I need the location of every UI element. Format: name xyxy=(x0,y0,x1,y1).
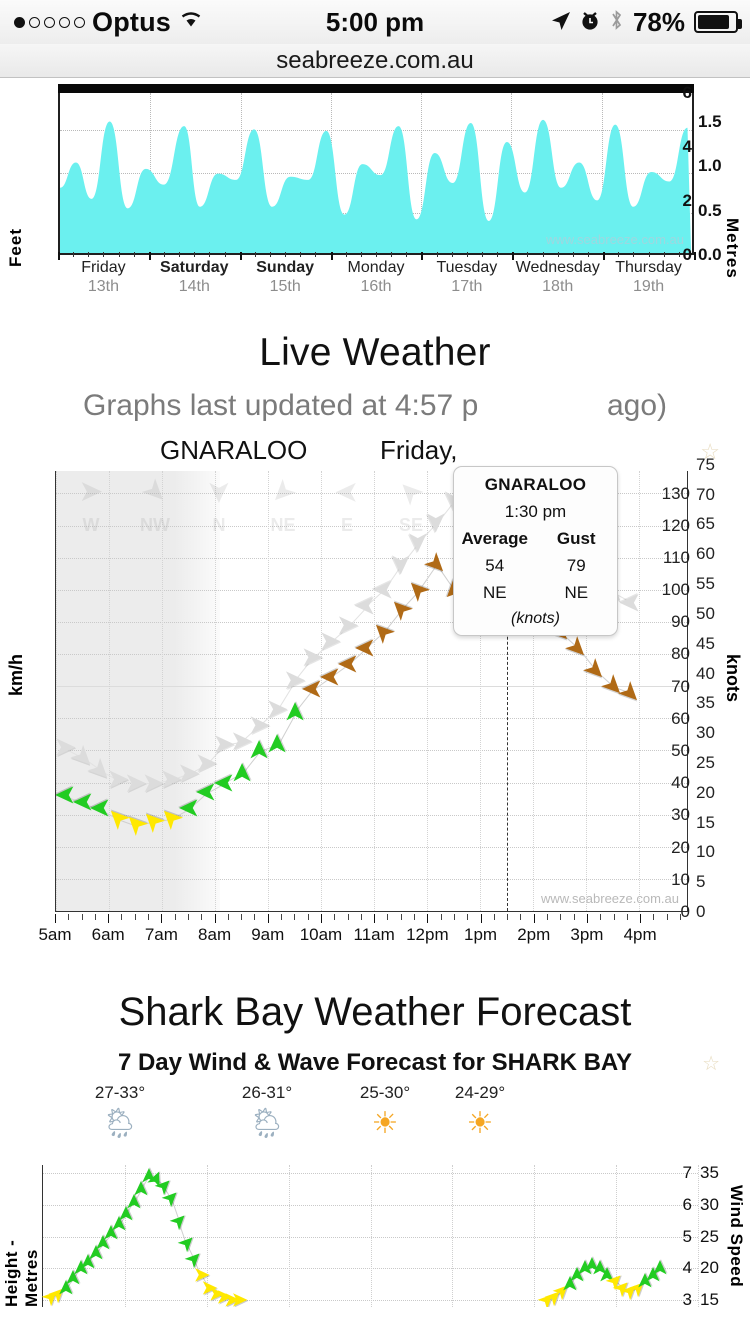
forecast-day: 24-29°☀ xyxy=(425,1083,535,1141)
wind-x-tick xyxy=(254,914,255,920)
page-content: www.seabreeze.com.au 6420 1.51.00.50.0 F… xyxy=(0,78,750,1334)
forecast-wind-arrow: ➤ xyxy=(158,1185,185,1212)
legend-direction-n: ➤N xyxy=(200,477,238,536)
tide-tick-right: 0.5 xyxy=(698,201,722,221)
wind-x-tick xyxy=(574,914,575,920)
wind-x-tick xyxy=(175,914,176,920)
wind-x-tick xyxy=(215,914,216,923)
tooltip-average-header: Average xyxy=(454,529,536,549)
wind-tick-left: 40 xyxy=(671,773,690,793)
wind-x-tick xyxy=(148,914,149,920)
live-wind-graph[interactable]: GNARALOO Friday, ☆ ➤W➤NW➤N➤NE➤E➤SE➤S➤SW … xyxy=(0,429,750,974)
tide-x-tick xyxy=(527,252,528,257)
wind-x-tick xyxy=(387,914,388,920)
wind-x-tick xyxy=(560,914,561,920)
status-bar-clock: 5:00 pm xyxy=(0,7,750,38)
tide-day-name: Sunday xyxy=(240,259,331,277)
wind-x-label: 5am xyxy=(38,925,71,945)
wind-tick-right: 45 xyxy=(696,634,715,654)
tide-x-tick xyxy=(618,252,619,257)
tide-axis-left-label: Feet xyxy=(6,228,26,267)
wind-x-tick xyxy=(600,914,601,920)
wind-tick-left: 20 xyxy=(671,838,690,858)
wind-x-label: 4pm xyxy=(624,925,657,945)
legend-arrow-icon: ➤ xyxy=(391,473,430,512)
live-weather-updated-text: Graphs last updated at 4:57 p ago) xyxy=(0,389,750,423)
gridline xyxy=(374,471,375,911)
updated-text-suffix: ago) xyxy=(607,389,667,422)
tooltip-gust-direction: NE xyxy=(536,583,618,603)
wind-tick-left: 70 xyxy=(671,677,690,697)
wind-tick-right: 55 xyxy=(696,574,715,594)
wind-tick-left: 120 xyxy=(662,516,690,536)
forecast-temp-range: 26-31° xyxy=(212,1083,322,1103)
wind-x-tick xyxy=(161,914,162,923)
tooltip-gust-speed: 79 xyxy=(536,556,618,576)
tide-x-tick xyxy=(346,252,347,257)
wind-tick-left: 90 xyxy=(671,612,690,632)
updated-text-prefix: Graphs last updated at 4:57 p xyxy=(83,389,478,422)
wind-x-tick xyxy=(587,914,588,923)
wind-x-tick xyxy=(334,914,335,920)
tide-x-tick xyxy=(225,252,226,257)
forecast-heading: Shark Bay Weather Forecast xyxy=(0,990,750,1035)
tide-chart[interactable]: www.seabreeze.com.au 6420 1.51.00.50.0 F… xyxy=(0,78,750,313)
tide-x-tick xyxy=(543,252,544,257)
wind-x-tick xyxy=(427,914,428,923)
legend-label: N xyxy=(200,515,238,536)
tide-day-label: Tuesday17th xyxy=(421,259,512,307)
gridline xyxy=(452,1165,453,1307)
wind-x-label: 12pm xyxy=(406,925,449,945)
wind-watermark: www.seabreeze.com.au xyxy=(541,891,679,906)
gridline xyxy=(56,847,687,848)
legend-arrow-icon: ➤ xyxy=(135,473,174,512)
gridline xyxy=(534,1165,535,1307)
wind-x-label: 6am xyxy=(92,925,125,945)
ios-status-bar: Optus 5:00 pm 78% xyxy=(0,0,750,44)
wind-x-tick xyxy=(294,914,295,920)
forecast-tick-right: 35 xyxy=(700,1163,719,1183)
legend-label: NW xyxy=(136,515,174,536)
wind-tick-left: 60 xyxy=(671,709,690,729)
legend-direction-ne: ➤NE xyxy=(264,477,302,536)
wind-x-tick xyxy=(640,914,641,923)
wind-x-tick xyxy=(467,914,468,920)
tide-x-tick xyxy=(376,252,377,257)
tide-x-tick xyxy=(103,252,104,257)
wind-graph-header: GNARALOO Friday, ☆ xyxy=(0,435,750,465)
tide-x-tick xyxy=(88,252,89,257)
forecast-tick-right: 15 xyxy=(700,1290,719,1307)
tooltip-average-direction: NE xyxy=(454,583,536,603)
tide-x-tick xyxy=(452,252,453,257)
tide-day-date: 16th xyxy=(331,278,422,296)
tide-x-tick xyxy=(649,252,650,257)
tide-x-tick xyxy=(437,252,438,257)
forecast-wind-arrow: ➤ xyxy=(231,1290,249,1307)
tide-tick-right: 0.0 xyxy=(698,245,722,265)
wind-graph-date: Friday, xyxy=(380,435,458,466)
wind-x-tick xyxy=(241,914,242,920)
average-arrow-marker: ➤ xyxy=(263,733,290,756)
wind-x-label: 11am xyxy=(354,925,395,945)
gridline xyxy=(56,471,57,911)
forecast-tick-left: 6 xyxy=(683,1195,692,1215)
gridline xyxy=(56,879,687,880)
forecast-temp-range: 24-29° xyxy=(425,1083,535,1103)
wind-x-tick xyxy=(135,914,136,920)
wind-x-tick xyxy=(308,914,309,920)
gust-arrow-marker: ➤ xyxy=(422,511,450,534)
gust-arrow-marker: ➤ xyxy=(387,552,415,575)
wind-x-tick xyxy=(494,914,495,920)
legend-label: E xyxy=(328,515,366,536)
wind-tick-left: 100 xyxy=(662,580,690,600)
tide-x-tick xyxy=(694,252,696,260)
wind-tick-right: 60 xyxy=(696,544,715,564)
tooltip-station: GNARALOO xyxy=(454,475,617,495)
gridline xyxy=(289,1165,290,1307)
tide-x-tick xyxy=(391,252,392,257)
wind-tick-right: 30 xyxy=(696,723,715,743)
wind-x-tick xyxy=(627,914,628,920)
tide-day-name: Wednesday xyxy=(512,259,603,277)
tide-x-tick xyxy=(315,252,316,257)
tide-x-tick xyxy=(179,252,180,257)
tide-watermark: www.seabreeze.com.au xyxy=(546,232,684,247)
gust-arrow-marker: ➤ xyxy=(371,576,394,604)
wind-tick-left: 50 xyxy=(671,741,690,761)
tooltip-direction-row: NE NE xyxy=(454,583,617,603)
wind-past-shading xyxy=(56,471,220,911)
tide-day-date: 14th xyxy=(149,278,240,296)
wind-x-label: 9am xyxy=(251,925,284,945)
wind-axis-x: 5am6am7am8am9am10am11am12pm1pm2pm3pm4pm xyxy=(55,914,688,956)
average-arrow-marker: ➤ xyxy=(228,762,255,785)
wind-tick-right: 50 xyxy=(696,604,715,624)
forecast-wind-arrow: ➤ xyxy=(165,1207,192,1234)
tide-x-tick xyxy=(633,252,634,257)
wind-x-tick xyxy=(55,914,56,923)
wind-x-tick xyxy=(534,914,535,923)
legend-arrow-icon: ➤ xyxy=(334,477,359,507)
tide-x-tick xyxy=(164,252,165,257)
wind-tick-right: 0 xyxy=(696,902,705,922)
wind-tick-left: 130 xyxy=(662,484,690,504)
wind-tick-right: 10 xyxy=(696,842,715,862)
tide-day-name: Monday xyxy=(331,259,422,277)
tide-x-tick xyxy=(679,252,680,257)
sun-icon: ☀ xyxy=(425,1107,535,1141)
wind-x-tick xyxy=(188,914,189,920)
tide-day-label: Friday13th xyxy=(58,259,149,307)
legend-label: NE xyxy=(264,515,302,536)
tooltip-header-row: Average Gust xyxy=(454,529,617,549)
forecast-tick-right: 20 xyxy=(700,1258,719,1278)
gridline xyxy=(56,718,687,719)
tooltip-average-speed: 54 xyxy=(454,556,536,576)
tide-curve xyxy=(60,93,692,255)
forecast-plot-area: ➤➤➤➤➤➤➤➤➤➤➤➤➤➤➤➤➤➤➤➤➤➤➤➤➤➤➤➤➤➤➤➤➤➤➤➤➤➤➤➤… xyxy=(42,1165,698,1307)
wind-tick-right: 65 xyxy=(696,514,715,534)
tide-x-tick xyxy=(406,252,407,257)
legend-direction-nw: ➤NW xyxy=(136,477,174,536)
wind-tick-right: 40 xyxy=(696,664,715,684)
forecast-axis-left-label: Height - Metres xyxy=(2,1205,42,1307)
wind-x-label: 8am xyxy=(198,925,231,945)
forecast-temp-range: 27-33° xyxy=(65,1083,175,1103)
legend-arrow-icon: ➤ xyxy=(78,477,103,507)
wind-x-tick xyxy=(121,914,122,920)
wind-tick-right: 20 xyxy=(696,783,715,803)
wind-x-tick xyxy=(667,914,668,920)
tide-x-tick xyxy=(209,252,210,257)
wind-axis-left-label: km/h xyxy=(6,654,27,696)
tide-day-labels: Friday13thSaturday14thSunday15thMonday16… xyxy=(58,259,694,307)
forecast-subheading: 7 Day Wind & Wave Forecast for SHARK BAY xyxy=(0,1049,750,1077)
forecast-tick-left: 5 xyxy=(683,1227,692,1247)
gridline xyxy=(371,1165,372,1307)
tide-tick-left: 6 xyxy=(683,83,692,103)
wind-x-tick xyxy=(281,914,282,920)
legend-arrow-icon: ➤ xyxy=(204,479,234,504)
tide-x-tick xyxy=(194,252,195,257)
tooltip-units: (knots) xyxy=(454,610,617,628)
tide-tick-right: 1.5 xyxy=(698,112,722,132)
tide-x-tick xyxy=(573,252,574,257)
wind-x-label: 10am xyxy=(300,925,343,945)
forecast-day: 26-31°🌦 xyxy=(212,1083,322,1141)
gridline xyxy=(698,1165,699,1307)
wind-x-label: 1pm xyxy=(464,925,497,945)
wind-x-tick xyxy=(441,914,442,920)
tide-day-name: Friday xyxy=(58,259,149,277)
tide-day-date: 13th xyxy=(58,278,149,296)
tide-tick-left: 2 xyxy=(683,191,692,211)
wind-tick-right: 75 xyxy=(696,455,715,475)
gridline xyxy=(268,471,269,911)
wind-x-tick xyxy=(614,914,615,920)
wind-x-tick xyxy=(401,914,402,920)
sun-rain-icon: 🌦 xyxy=(65,1107,175,1141)
wind-tick-right: 70 xyxy=(696,485,715,505)
tide-day-name: Tuesday xyxy=(421,259,512,277)
wind-x-tick xyxy=(520,914,521,920)
wind-x-label: 2pm xyxy=(517,925,550,945)
wind-x-tick xyxy=(228,914,229,920)
forecast-axis-right-label: Wind Speed xyxy=(726,1185,746,1287)
tide-axis-x-ticks xyxy=(58,252,694,259)
legend-direction-w: ➤W xyxy=(72,477,110,536)
tide-x-tick xyxy=(482,252,483,257)
sun-rain-icon: 🌦 xyxy=(212,1107,322,1141)
tide-x-tick xyxy=(73,252,74,257)
forecast-temp-range: 25-30° xyxy=(330,1083,440,1103)
tide-day-name: Thursday xyxy=(603,259,694,277)
tide-day-label: Wednesday18th xyxy=(512,259,603,307)
tide-day-date: 15th xyxy=(240,278,331,296)
wind-x-tick xyxy=(414,914,415,920)
sun-icon: ☀ xyxy=(330,1107,440,1141)
wind-tick-right: 25 xyxy=(696,753,715,773)
wind-x-tick xyxy=(507,914,508,920)
wind-x-tick xyxy=(68,914,69,920)
tide-day-date: 19th xyxy=(603,278,694,296)
forecast-day-summaries: 27-33°🌦26-31°🌦25-30°☀24-29°☀ xyxy=(0,1083,750,1157)
wind-x-label: 3pm xyxy=(570,925,603,945)
forecast-wind-arrow: ➤ xyxy=(650,1260,671,1278)
live-weather-heading: Live Weather xyxy=(0,331,750,375)
tide-day-label: Thursday19th xyxy=(603,259,694,307)
tide-x-tick xyxy=(270,252,271,257)
forecast-chart[interactable]: ➤➤➤➤➤➤➤➤➤➤➤➤➤➤➤➤➤➤➤➤➤➤➤➤➤➤➤➤➤➤➤➤➤➤➤➤➤➤➤➤… xyxy=(0,1157,750,1307)
tide-axis-right-label: Metres xyxy=(722,218,742,279)
forecast-tick-right: 30 xyxy=(700,1195,719,1215)
tide-day-label: Saturday14th xyxy=(149,259,240,307)
battery-icon xyxy=(694,11,738,33)
gridline xyxy=(109,471,110,911)
wind-axis-right-label: knots xyxy=(722,654,743,702)
legend-direction-e: ➤E xyxy=(328,477,366,536)
favourite-star-icon[interactable]: ☆ xyxy=(702,1051,720,1076)
wind-x-tick xyxy=(454,914,455,920)
forecast-tick-left: 4 xyxy=(683,1258,692,1278)
tide-day-label: Sunday15th xyxy=(240,259,331,307)
wind-x-tick xyxy=(201,914,202,920)
wind-x-tick xyxy=(361,914,362,920)
wind-x-tick xyxy=(108,914,109,923)
wind-x-tick xyxy=(82,914,83,920)
tooltip-time: 1:30 pm xyxy=(454,502,617,522)
wind-x-tick xyxy=(653,914,654,920)
wind-tick-left: 10 xyxy=(671,870,690,890)
wind-tick-left: 110 xyxy=(663,548,690,568)
wind-tick-right: 15 xyxy=(696,813,715,833)
tide-day-date: 17th xyxy=(421,278,512,296)
tide-x-tick xyxy=(664,252,665,257)
tide-x-tick xyxy=(285,252,286,257)
wind-x-tick xyxy=(680,914,681,920)
gridline xyxy=(56,750,687,751)
gridline xyxy=(125,1165,126,1307)
wind-station-name: GNARALOO xyxy=(160,435,307,466)
wind-datapoint-tooltip: GNARALOO 1:30 pm Average Gust 54 79 NE N… xyxy=(453,466,618,636)
forecast-day: 27-33°🌦 xyxy=(65,1083,175,1141)
wind-x-tick xyxy=(268,914,269,923)
tide-day-date: 18th xyxy=(512,278,603,296)
tide-x-tick xyxy=(467,252,468,257)
tide-day-name: Saturday xyxy=(149,259,240,277)
tooltip-speed-row: 54 79 xyxy=(454,556,617,576)
tide-plot-area: www.seabreeze.com.au xyxy=(58,93,694,255)
gridline xyxy=(215,471,216,911)
tide-x-tick xyxy=(361,252,362,257)
wind-tick-right: 5 xyxy=(696,872,705,892)
tide-x-tick xyxy=(497,252,498,257)
tide-x-tick xyxy=(255,252,256,257)
wind-tick-right: 35 xyxy=(696,693,715,713)
gridline xyxy=(162,471,163,911)
wind-tick-left: 30 xyxy=(671,805,690,825)
tide-x-tick xyxy=(588,252,589,257)
tide-x-tick xyxy=(119,252,120,257)
wind-x-tick xyxy=(321,914,322,923)
tooltip-gust-header: Gust xyxy=(536,529,618,549)
wind-x-tick xyxy=(374,914,375,923)
legend-arrow-icon: ➤ xyxy=(263,473,302,512)
forecast-day: 25-30°☀ xyxy=(330,1083,440,1141)
forecast-tick-right: 25 xyxy=(700,1227,719,1247)
tide-x-tick xyxy=(558,252,559,257)
wind-x-label: 7am xyxy=(145,925,178,945)
browser-address-bar[interactable]: seabreeze.com.au xyxy=(0,44,750,78)
tide-day-label: Monday16th xyxy=(331,259,422,307)
tide-tick-right: 1.0 xyxy=(698,156,722,176)
wind-x-tick xyxy=(95,914,96,920)
forecast-tick-left: 7 xyxy=(683,1163,692,1183)
wind-x-tick xyxy=(348,914,349,920)
wind-tick-left: 80 xyxy=(671,644,690,664)
forecast-tick-left: 3 xyxy=(683,1290,692,1307)
tide-tick-left: 4 xyxy=(683,137,692,157)
wind-x-tick xyxy=(547,914,548,920)
tide-x-tick xyxy=(134,252,135,257)
tide-x-tick xyxy=(300,252,301,257)
url-text: seabreeze.com.au xyxy=(276,47,473,75)
gust-arrow-marker: ➤ xyxy=(619,589,642,617)
wind-x-tick xyxy=(481,914,482,923)
legend-label: W xyxy=(72,515,110,536)
